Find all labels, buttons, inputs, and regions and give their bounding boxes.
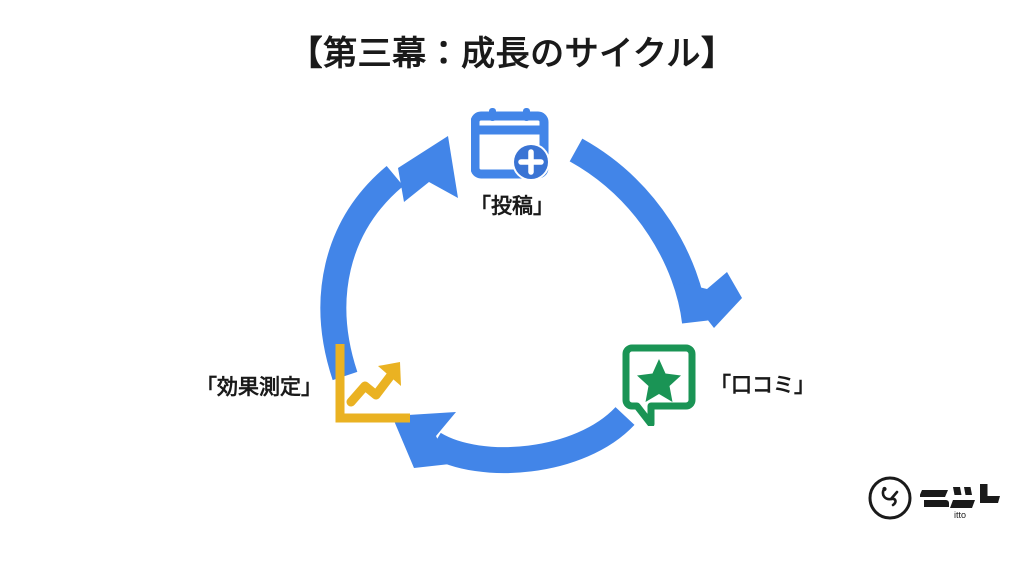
logo-subtext: itto [954, 510, 966, 520]
cycle-node-measure-label: 「効果測定」 [196, 371, 322, 401]
slide-canvas: 【第三幕：成長のサイクル】 [0, 0, 1024, 572]
brand-logo: itto [866, 466, 1006, 530]
review-star-bubble-icon [622, 342, 696, 426]
logo-wordmark: itto [920, 474, 1004, 522]
cycle-node-review[interactable]: 「口コミ」 [622, 342, 815, 426]
cycle-node-post-label: 「投稿」 [470, 190, 554, 220]
calendar-add-icon [471, 106, 553, 184]
cycle-node-post[interactable]: 「投稿」 [437, 106, 587, 220]
cycle-node-measure[interactable]: 「効果測定」 [196, 344, 410, 428]
page-title: 【第三幕：成長のサイクル】 [0, 26, 1024, 75]
growth-chart-icon [330, 344, 410, 428]
growth-cycle-diagram: 「投稿」 「口コミ」 「効果測定」 [0, 86, 1024, 506]
cycle-node-review-label: 「口コミ」 [710, 369, 815, 399]
arrow-review-to-measure [392, 412, 625, 468]
circle-clock-bird-icon [866, 474, 914, 522]
arrow-post-to-review [576, 150, 742, 328]
